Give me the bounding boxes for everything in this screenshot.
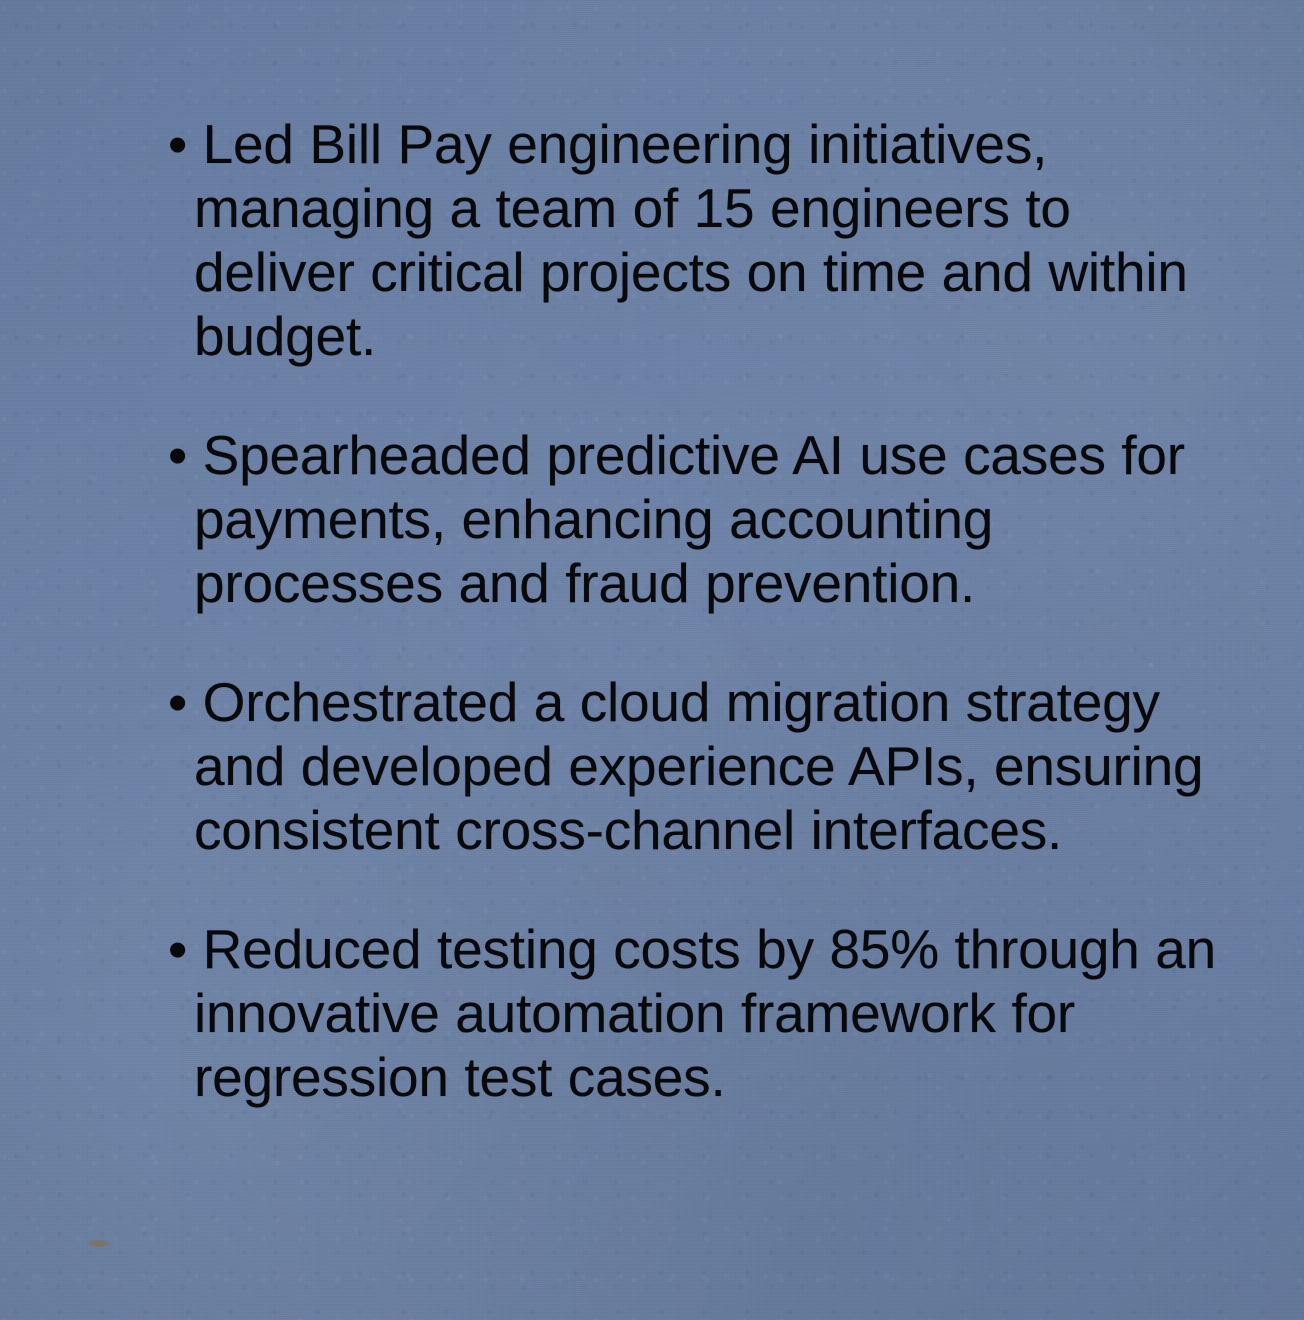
list-item-text: Led Bill Pay engineering initiatives, ma… <box>194 113 1188 367</box>
list-item: • Reduced testing costs by 85% through a… <box>168 917 1218 1109</box>
list-item: • Led Bill Pay engineering initiatives, … <box>168 112 1218 368</box>
bullet-marker: • <box>168 671 187 733</box>
bullet-marker: • <box>168 113 187 175</box>
list-item: • Orchestrated a cloud migration strateg… <box>168 670 1218 862</box>
bullet-marker: • <box>168 918 187 980</box>
slide-page: • Led Bill Pay engineering initiatives, … <box>0 0 1304 1320</box>
list-item: • Spearheaded predictive AI use cases fo… <box>168 423 1218 615</box>
bullet-marker: • <box>168 424 187 486</box>
bullet-list: • Led Bill Pay engineering initiatives, … <box>168 112 1218 1109</box>
list-item-text: Spearheaded predictive AI use cases for … <box>194 424 1185 614</box>
paper-smudge-artifact <box>88 1240 110 1247</box>
list-item-text: Reduced testing costs by 85% through an … <box>194 918 1216 1108</box>
list-item-text: Orchestrated a cloud migration strategy … <box>194 671 1203 861</box>
